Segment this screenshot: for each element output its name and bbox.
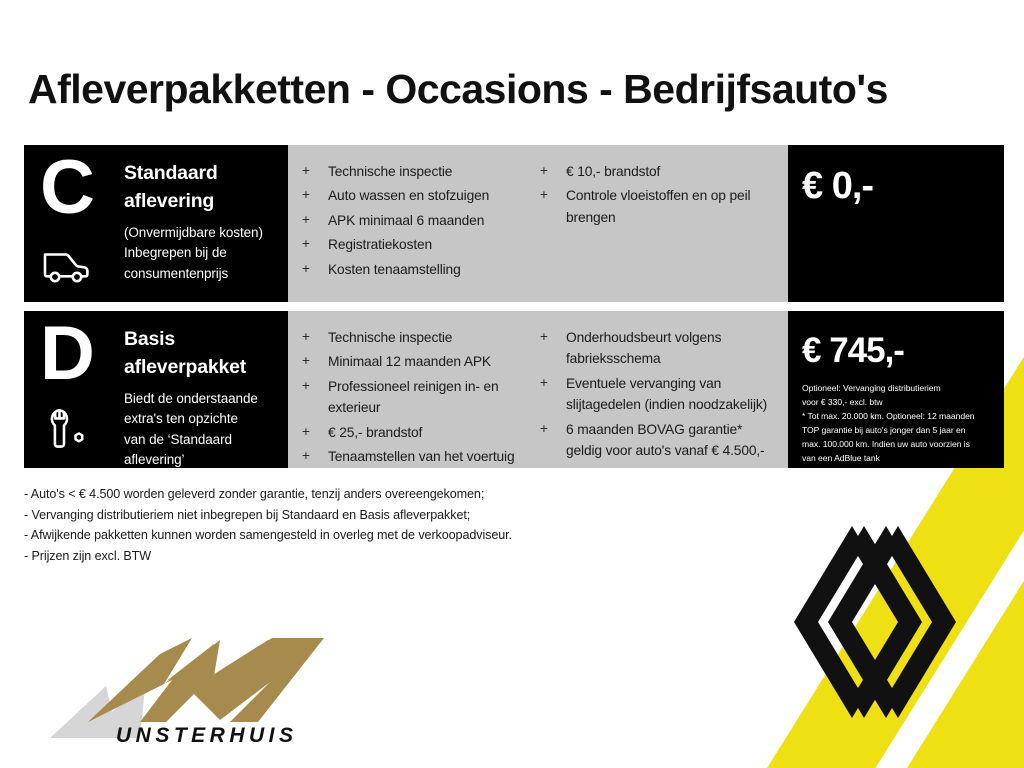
feature-column-2: + € 10,- brandstof + Controle vloeistoff… [540,161,778,292]
package-title-line2: afleverpakket [124,353,276,381]
feature-column-1: + Technische inspectie + Minimaal 12 maa… [302,327,540,458]
price-footnote-line: van een AdBlue tank [802,452,992,466]
feature-label: APK minimaal 6 maanden [328,210,540,231]
feature-item: + Auto wassen en stofzuigen [302,185,540,206]
feature-item: + Kosten tenaamstelling [302,259,540,280]
price-footnote-line: voor € 330,- excl. btw [802,396,992,410]
footnotes: - Auto's < € 4.500 worden geleverd zonde… [24,484,512,566]
renault-logo [790,522,960,722]
package-title-line1: Basis [124,325,276,353]
package-badge-basis: D [38,325,122,458]
plus-icon: + [302,351,328,372]
plus-icon: + [540,161,566,182]
plus-icon: + [540,373,566,416]
munsterhuis-logo: UNSTERHUIS [42,626,342,766]
feature-item: + Technische inspectie [302,327,540,348]
plus-icon: + [302,376,328,419]
plus-icon: + [302,185,328,206]
footnote-item: - Afwijkende pakketten kunnen worden sam… [24,525,512,546]
feature-label: Kosten tenaamstelling [328,259,540,280]
price-footnote: Optioneel: Vervanging distributieriem vo… [802,382,992,466]
feature-column-1: + Technische inspectie + Auto wassen en … [302,161,540,292]
package-subtitle-line1: (Onvermijdbare kosten) [124,223,276,244]
package-badge-standaard: C [38,159,122,292]
page-title: Afleverpakketten - Occasions - Bedrijfsa… [28,66,888,113]
feature-item: + Registratiekosten [302,234,540,255]
feature-label: Minimaal 12 maanden APK [328,351,540,372]
package-price-standaard: € 0,- [788,145,1004,302]
feature-label: Technische inspectie [328,161,540,182]
package-header-text-standaard: Standaard aflevering (Onvermijdbare kost… [122,159,276,292]
renault-diamond-icon [790,522,960,722]
feature-label: Auto wassen en stofzuigen [328,185,540,206]
feature-item: + € 10,- brandstof [540,161,778,182]
footnote-item: - Auto's < € 4.500 worden geleverd zonde… [24,484,512,505]
price-footnote-line: TOP garantie bij auto's jonger dan 5 jaa… [802,424,992,438]
package-subtitle-line4: aflevering’ [124,450,276,471]
plus-icon: + [302,259,328,280]
feature-column-2: + Onderhoudsbeurt volgens fabrieksschema… [540,327,778,458]
plus-icon: + [302,446,328,467]
feature-item: + € 25,- brandstof [302,422,540,443]
package-price-basis: € 745,- Optioneel: Vervanging distributi… [788,311,1004,468]
plus-icon: + [302,327,328,348]
package-header-standaard: C Standaard aflevering (Onvermijdbare ko… [24,145,288,302]
feature-label: € 25,- brandstof [328,422,540,443]
plus-icon: + [540,185,566,228]
feature-item: + Controle vloeistoffen en op peil breng… [540,185,778,228]
feature-label: Tenaamstellen van het voertuig [328,446,540,467]
feature-label: Professioneel reinigen in- en exterieur [328,376,540,419]
feature-label: Registratiekosten [328,234,540,255]
package-letter: C [40,153,93,223]
plus-icon: + [302,210,328,231]
price-amount: € 0,- [802,167,992,205]
footnote-item: - Vervanging distributieriem niet inbegr… [24,505,512,526]
feature-item: + APK minimaal 6 maanden [302,210,540,231]
feature-label: Controle vloeistoffen en op peil brengen [566,185,778,228]
package-subtitle-line1: Biedt de onderstaande [124,389,276,410]
plus-icon: + [540,419,566,462]
van-icon [42,249,94,288]
plus-icon: + [540,327,566,370]
feature-item: + 6 maanden BOVAG garantie* geldig voor … [540,419,778,462]
feature-label: € 10,- brandstof [566,161,778,182]
feature-item: + Eventuele vervanging van slijtagedelen… [540,373,778,416]
package-letter: D [40,319,93,389]
package-subtitle-line3: van de ‘Standaard [124,430,276,451]
plus-icon: + [302,422,328,443]
package-subtitle-line3: consumentenprijs [124,264,276,285]
package-subtitle-line2: extra's ten opzichte [124,409,276,430]
feature-item: + Minimaal 12 maanden APK [302,351,540,372]
package-features-basis: + Technische inspectie + Minimaal 12 maa… [288,311,788,468]
feature-item: + Technische inspectie [302,161,540,182]
feature-label: 6 maanden BOVAG garantie* geldig voor au… [566,419,778,462]
plus-icon: + [302,234,328,255]
feature-label: Technische inspectie [328,327,540,348]
package-row-standaard: C Standaard aflevering (Onvermijdbare ko… [24,145,1004,302]
package-row-basis: D Basis afleverpakket Biedt de onderstaa… [24,311,1004,468]
feature-item: + Tenaamstellen van het voertuig [302,446,540,467]
package-subtitle-line2: Inbegrepen bij de [124,243,276,264]
package-title-line2: aflevering [124,187,276,215]
price-amount: € 745,- [802,333,992,368]
price-footnote-line: max. 100.000 km. Indien uw auto voorzien… [802,438,992,452]
price-footnote-line: * Tot max. 20.000 km. Optioneel: 12 maan… [802,410,992,424]
package-title-line1: Standaard [124,159,276,187]
package-features-standaard: + Technische inspectie + Auto wassen en … [288,145,788,302]
price-footnote-line: Optioneel: Vervanging distributieriem [802,382,992,396]
package-header-basis: D Basis afleverpakket Biedt de onderstaa… [24,311,288,468]
footnote-item: - Prijzen zijn excl. BTW [24,546,512,567]
feature-item: + Onderhoudsbeurt volgens fabrieksschema [540,327,778,370]
package-header-text-basis: Basis afleverpakket Biedt de onderstaand… [122,325,276,458]
feature-label: Onderhoudsbeurt volgens fabrieksschema [566,327,778,370]
wrench-icon [42,407,94,454]
feature-item: + Professioneel reinigen in- en exterieu… [302,376,540,419]
plus-icon: + [302,161,328,182]
munsterhuis-wordmark: UNSTERHUIS [116,724,298,748]
feature-label: Eventuele vervanging van slijtagedelen (… [566,373,778,416]
